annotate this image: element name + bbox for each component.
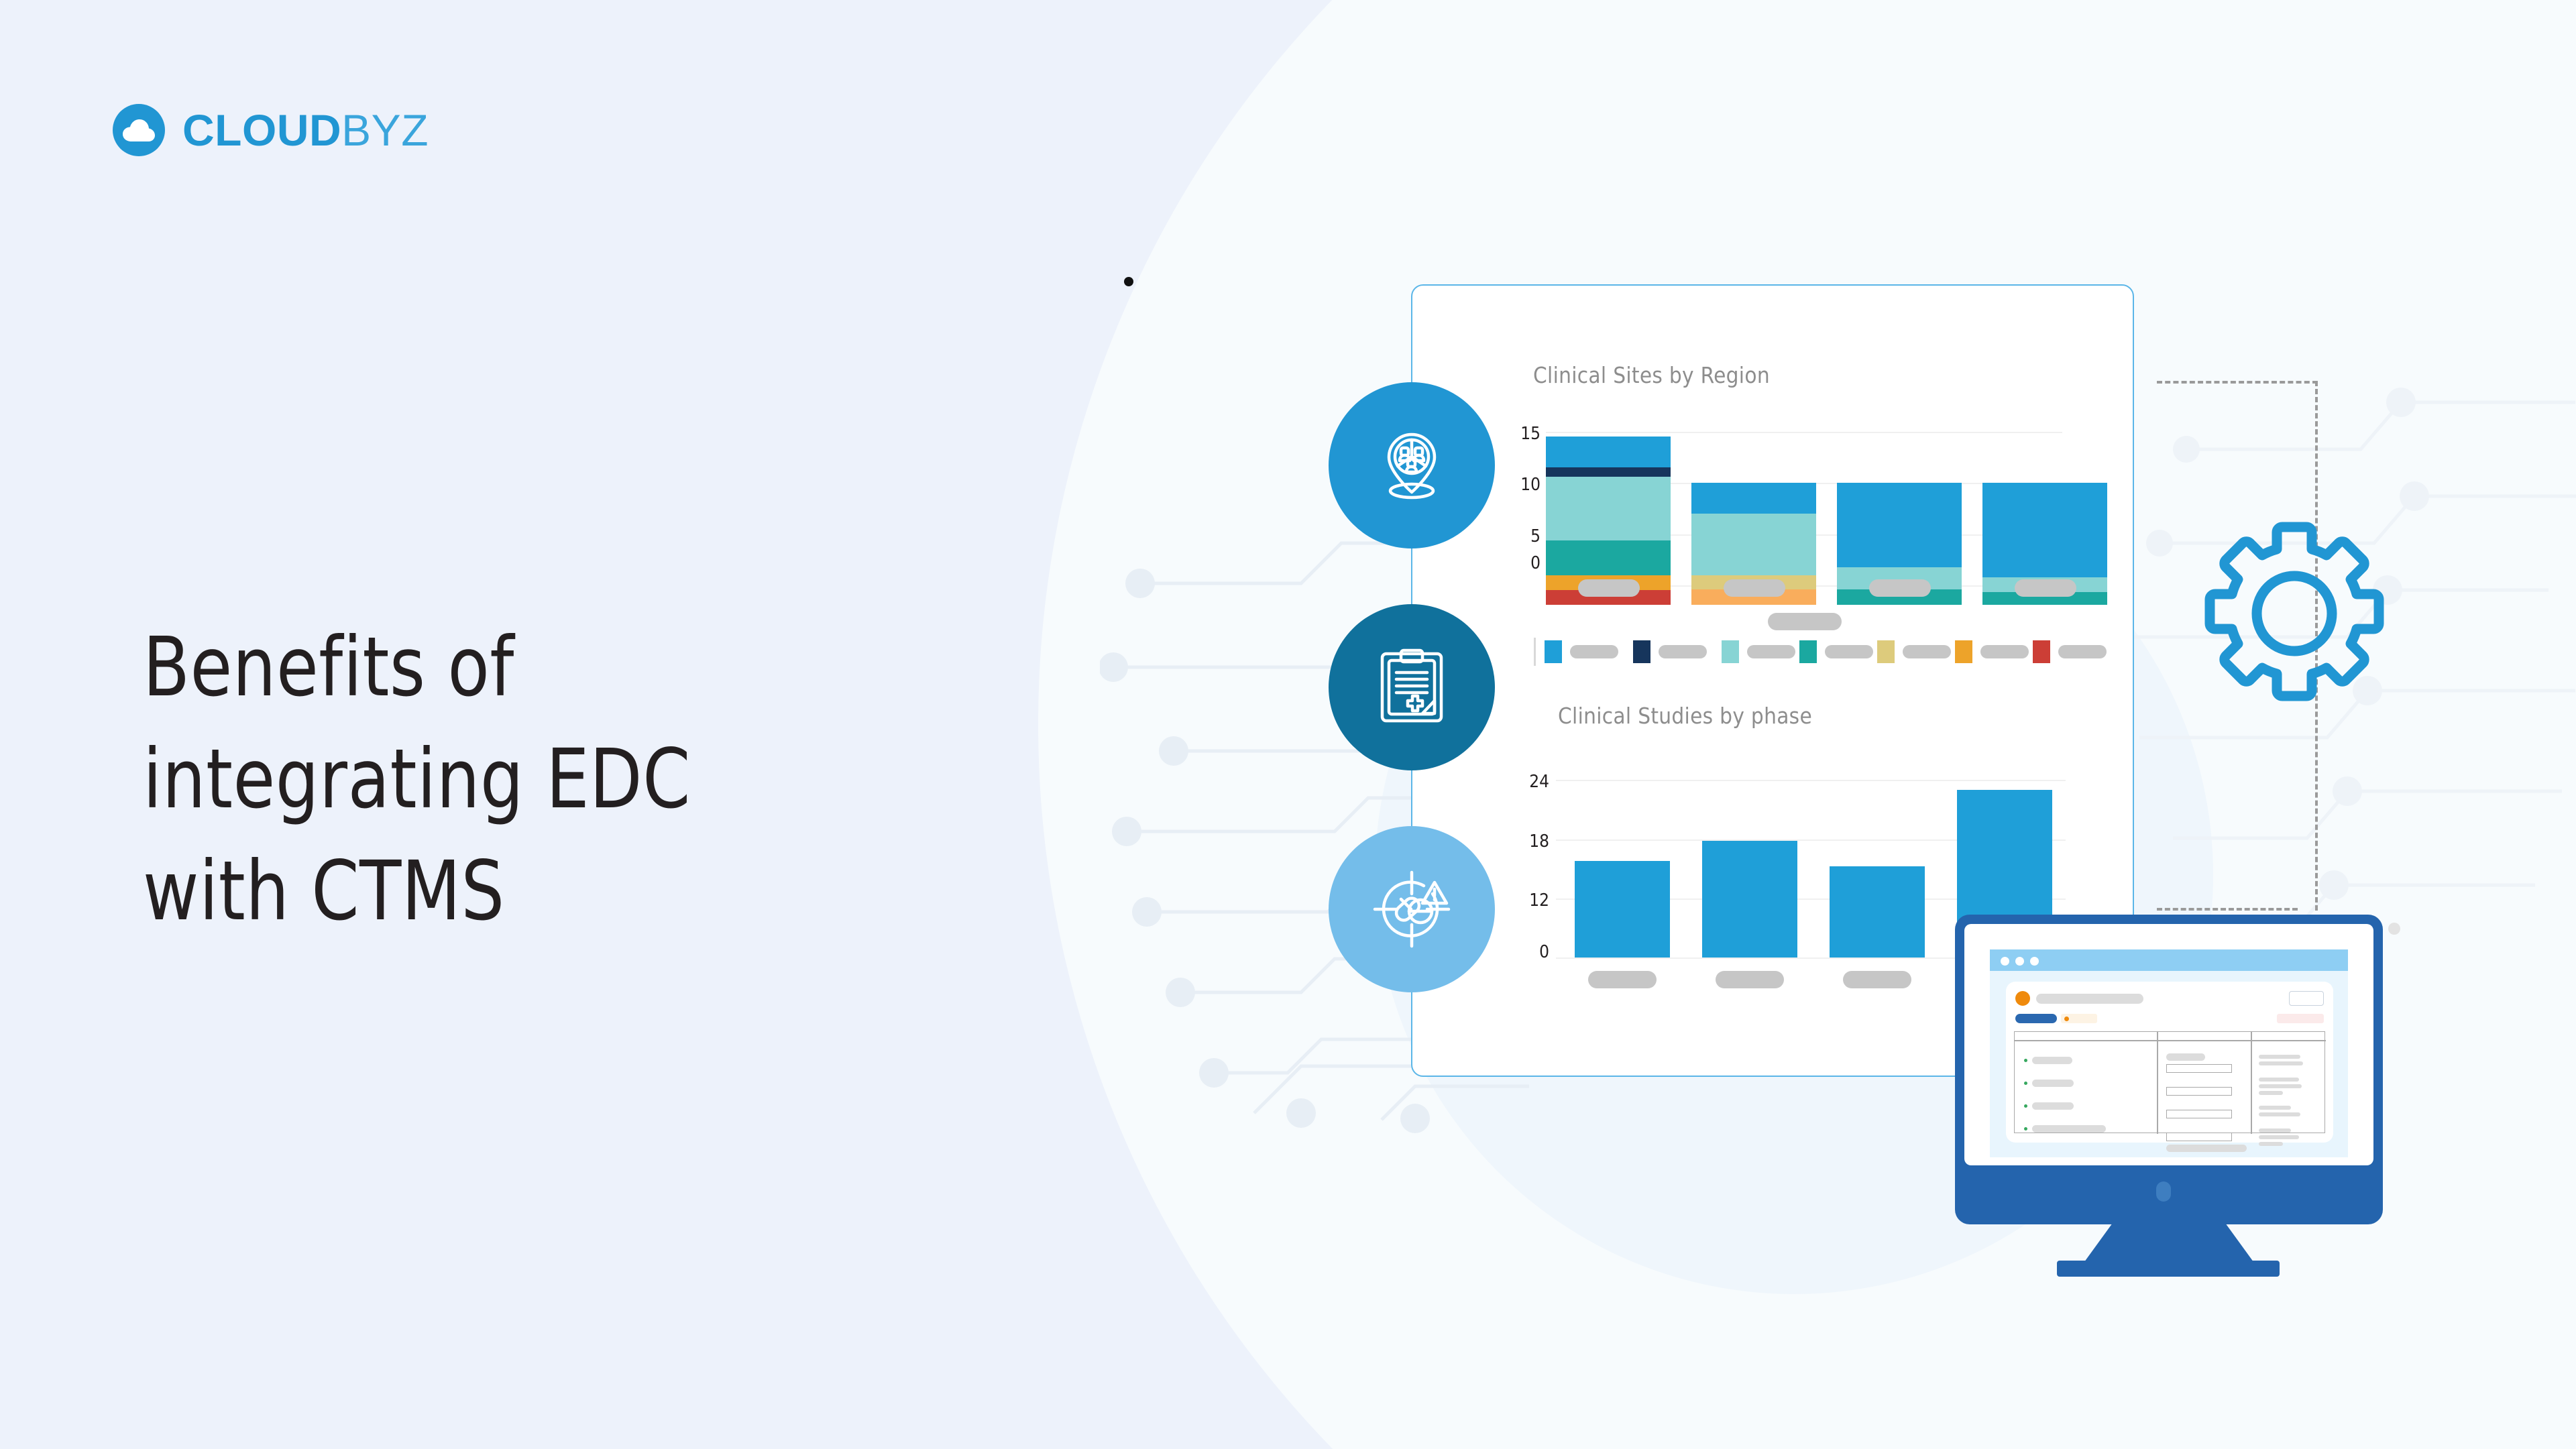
bar-segment: [1691, 514, 1816, 575]
bar-segment: [1546, 540, 1671, 575]
chart-2-ytick-24: 24: [1521, 772, 1549, 792]
logo-text-bold: CLOUD: [182, 105, 341, 155]
legend-swatch: [1722, 640, 1739, 663]
chart-1-ytick-5: 5: [1512, 526, 1541, 546]
legend-label-placeholder: [1825, 645, 1873, 658]
window-dot-icon[interactable]: [2015, 957, 2024, 966]
legend-item[interactable]: [1877, 640, 1951, 663]
cloud-icon: [113, 104, 165, 156]
legend-item[interactable]: [1799, 640, 1873, 663]
legend-label-placeholder: [1903, 645, 1951, 658]
text-input[interactable]: [2166, 1064, 2232, 1073]
medical-clipboard-icon: [1374, 647, 1449, 728]
window-dot-icon[interactable]: [2030, 957, 2039, 966]
legend-swatch: [1799, 640, 1817, 663]
data-table: [2014, 1031, 2325, 1133]
table-row[interactable]: [2032, 1080, 2074, 1087]
chart-2-bar-1[interactable]: [1575, 861, 1670, 958]
field-footer: [2166, 1145, 2247, 1152]
detail-line: [2259, 1078, 2299, 1082]
monitor-base: [2057, 1261, 2280, 1277]
legend-item[interactable]: [1722, 640, 1795, 663]
chart-1-legend: [1534, 640, 2070, 663]
tab-active[interactable]: [2015, 1014, 2057, 1023]
sidebar-item-drug-safety[interactable]: [1329, 826, 1495, 992]
legend-label-placeholder: [1747, 645, 1795, 658]
headline-line-2: integrating EDC: [143, 723, 923, 835]
chart-1-ytick-10: 10: [1512, 475, 1541, 495]
legend-swatch: [1545, 640, 1562, 663]
legend-item[interactable]: [1955, 640, 2029, 663]
detail-line: [2259, 1061, 2303, 1065]
chart-1-xlabel-1: [1578, 579, 1640, 597]
text-input[interactable]: [2166, 1110, 2232, 1118]
detail-line: [2259, 1084, 2302, 1088]
chart-1-xlabel-2: [1724, 579, 1785, 597]
slide-canvas: CLOUDBYZ Benefits of integrating EDC wit…: [0, 0, 2576, 1449]
chart-2-gridline-24: [1556, 780, 2066, 781]
legend-label-placeholder: [1659, 645, 1707, 658]
legend-item[interactable]: [1633, 640, 1707, 663]
monitor-power-indicator: [2156, 1181, 2171, 1202]
monitor-frame: [1955, 915, 2383, 1224]
legend-divider: [1534, 638, 1536, 666]
table-column-divider: [2251, 1032, 2252, 1134]
chart-2-xlabel-2: [1716, 971, 1784, 988]
bar-segment: [1691, 483, 1816, 514]
row-status-dot: [2024, 1059, 2027, 1062]
bar-segment: [1546, 467, 1671, 477]
avatar: [2015, 991, 2030, 1006]
chart-1-ytick-15: 15: [1512, 424, 1541, 444]
app-panel: [2006, 982, 2333, 1143]
headline-line-1: Benefits of: [143, 612, 923, 723]
legend-item[interactable]: [2033, 640, 2107, 663]
chart-2-ytick-0: 0: [1521, 942, 1549, 962]
legend-item[interactable]: [1545, 640, 1618, 663]
detail-line: [2259, 1142, 2283, 1146]
chart-2-ytick-18: 18: [1521, 831, 1549, 852]
row-status-dot: [2024, 1104, 2027, 1108]
text-input[interactable]: [2166, 1087, 2232, 1096]
legend-label-placeholder: [1570, 645, 1618, 658]
headline-line-3: with CTMS: [143, 835, 923, 947]
logo-text-thin: BYZ: [341, 105, 429, 155]
panel-title-placeholder: [2036, 994, 2143, 1004]
gear-icon: [2197, 516, 2392, 711]
detail-line: [2259, 1055, 2300, 1059]
app-window: [1990, 949, 2348, 1157]
chart-2-xlabel-1: [1588, 971, 1657, 988]
chart-2-ytick-12: 12: [1521, 890, 1549, 911]
chart-2-title: Clinical Studies by phase: [1558, 703, 1812, 729]
brand-logo[interactable]: CLOUDBYZ: [113, 104, 429, 156]
legend-label-placeholder: [2058, 645, 2107, 658]
table-row[interactable]: [2032, 1057, 2072, 1064]
sidebar-item-clinical-documents[interactable]: [1329, 604, 1495, 770]
legend-swatch: [2033, 640, 2050, 663]
text-input[interactable]: [2166, 1133, 2232, 1141]
tab-secondary[interactable]: [2061, 1014, 2097, 1023]
chart-2-bar-2[interactable]: [1702, 841, 1797, 958]
detail-line: [2259, 1135, 2299, 1139]
table-row[interactable]: [2032, 1125, 2106, 1133]
chart-1-xlabel-3: [1869, 579, 1931, 597]
status-badge: [2277, 1014, 2324, 1023]
row-status-dot: [2024, 1127, 2027, 1131]
table-column-divider: [2157, 1032, 2158, 1134]
detail-line: [2259, 1128, 2291, 1133]
legend-swatch: [1955, 640, 1972, 663]
decorative-dot: [1124, 277, 1133, 286]
chart-2-xlabel-3: [1843, 971, 1911, 988]
chart-1-bar-1[interactable]: [1546, 437, 1671, 583]
sidebar-item-clinical-sites[interactable]: [1329, 382, 1495, 548]
drug-safety-target-icon: [1369, 867, 1454, 951]
table-header-divider: [2015, 1040, 2326, 1041]
bar-segment: [1546, 477, 1671, 540]
chart-1-ytick-0: 0: [1512, 553, 1541, 573]
location-pin-people-icon: [1370, 424, 1453, 507]
monitor-screen: [1964, 924, 2373, 1165]
detail-line: [2259, 1112, 2300, 1116]
field-label: [2166, 1053, 2205, 1061]
chart-1-gridline-15: [1546, 432, 2062, 433]
window-dot-icon[interactable]: [2001, 957, 2009, 966]
panel-action-button[interactable]: [2289, 991, 2324, 1006]
window-titlebar: [1990, 949, 2348, 971]
chart-1-xlabel-4: [2015, 579, 2076, 597]
legend-swatch: [1877, 640, 1895, 663]
bar-segment: [1837, 483, 1962, 567]
detail-line: [2259, 1091, 2283, 1095]
row-status-dot: [2024, 1082, 2027, 1085]
page-title: Benefits of integrating EDC with CTMS: [143, 612, 923, 947]
bar-segment: [1982, 483, 2107, 577]
table-row[interactable]: [2032, 1102, 2074, 1110]
chart-1-title: Clinical Sites by Region: [1533, 362, 1770, 388]
detail-line: [2259, 1106, 2291, 1110]
chart-2-bar-3[interactable]: [1830, 866, 1925, 958]
legend-label-placeholder: [1980, 645, 2029, 658]
decorative-dot-right: [2388, 923, 2400, 935]
chart-1-axis-caption: [1768, 613, 1842, 630]
bar-segment: [1546, 437, 1671, 467]
legend-swatch: [1633, 640, 1650, 663]
